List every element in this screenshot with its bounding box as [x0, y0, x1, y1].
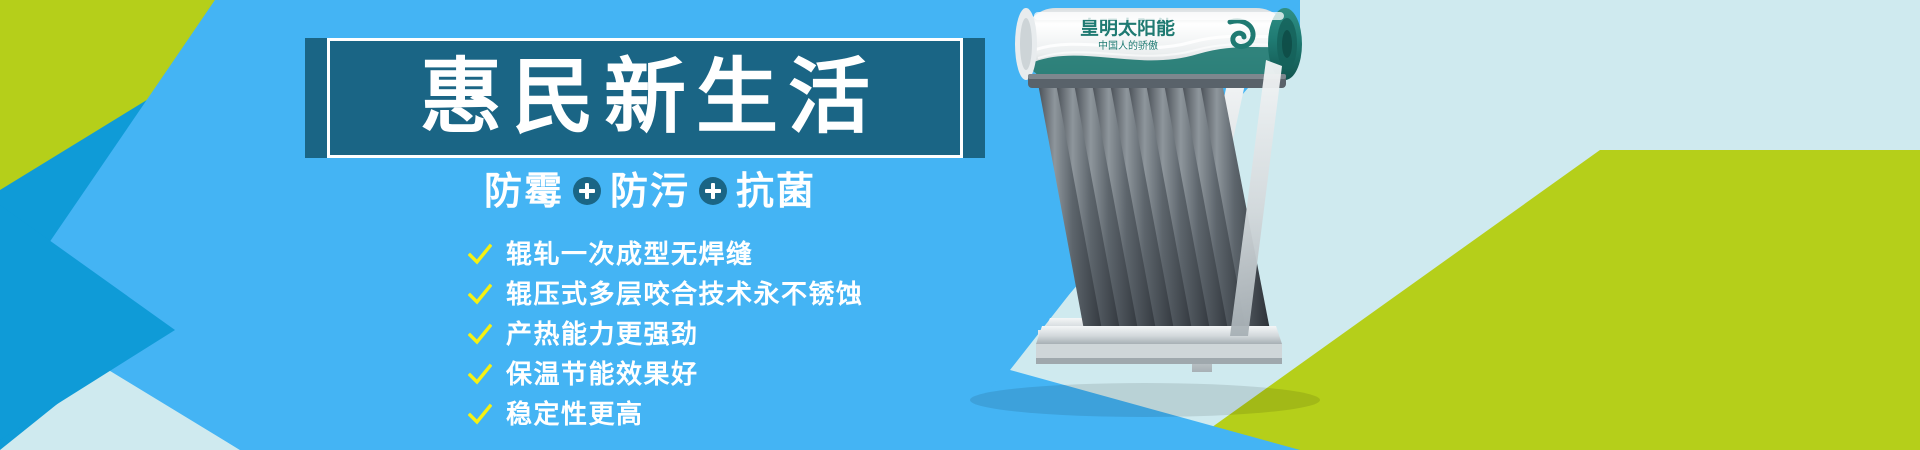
tube-manifold: [1028, 74, 1286, 88]
check-icon: [468, 283, 492, 307]
promo-banner: 惠民新生活 防霉 防污 抗菌 辊轧一次成型无焊缝 辊压式多层咬合技术永不锈蚀: [0, 0, 1920, 450]
feature-label: 稳定性更高: [506, 402, 644, 428]
product-shadow: [970, 383, 1320, 417]
title-plate-border: 惠民新生活: [327, 38, 963, 158]
plus-badge-icon: [573, 177, 601, 205]
subtitle-word-1: 防霉: [484, 172, 564, 210]
subtitle-row: 防霉 防污 抗菌: [455, 172, 845, 210]
feature-label: 辊压式多层咬合技术永不锈蚀: [506, 282, 864, 308]
list-item: 辊压式多层咬合技术永不锈蚀: [468, 278, 864, 311]
list-item: 产热能力更强劲: [468, 318, 864, 351]
page-title: 惠民新生活: [410, 57, 880, 139]
feature-label: 产热能力更强劲: [506, 322, 699, 348]
subtitle-word-3: 抗菌: [736, 172, 816, 210]
check-icon: [468, 323, 492, 347]
check-icon: [468, 403, 492, 427]
product-image: 皇明太阳能 中国人的骄傲: [930, 0, 1490, 450]
plus-badge-icon: [699, 177, 727, 205]
storage-tank: 皇明太阳能 中国人的骄傲: [1015, 8, 1302, 82]
tank-sub-text: 中国人的骄傲: [1098, 39, 1158, 52]
subtitle-word-2: 防污: [610, 172, 690, 210]
feature-label: 辊轧一次成型无焊缝: [506, 242, 754, 268]
list-item: 辊轧一次成型无焊缝: [468, 238, 864, 271]
check-icon: [468, 243, 492, 267]
feature-list: 辊轧一次成型无焊缝 辊压式多层咬合技术永不锈蚀 产热能力更强劲 保温节能效果好: [468, 238, 864, 431]
solar-water-heater-illustration: 皇明太阳能 中国人的骄傲: [930, 0, 1490, 450]
list-item: 保温节能效果好: [468, 358, 864, 391]
list-item: 稳定性更高: [468, 398, 864, 431]
title-plate: 惠民新生活: [305, 38, 985, 158]
check-icon: [468, 363, 492, 387]
feature-label: 保温节能效果好: [506, 362, 699, 388]
